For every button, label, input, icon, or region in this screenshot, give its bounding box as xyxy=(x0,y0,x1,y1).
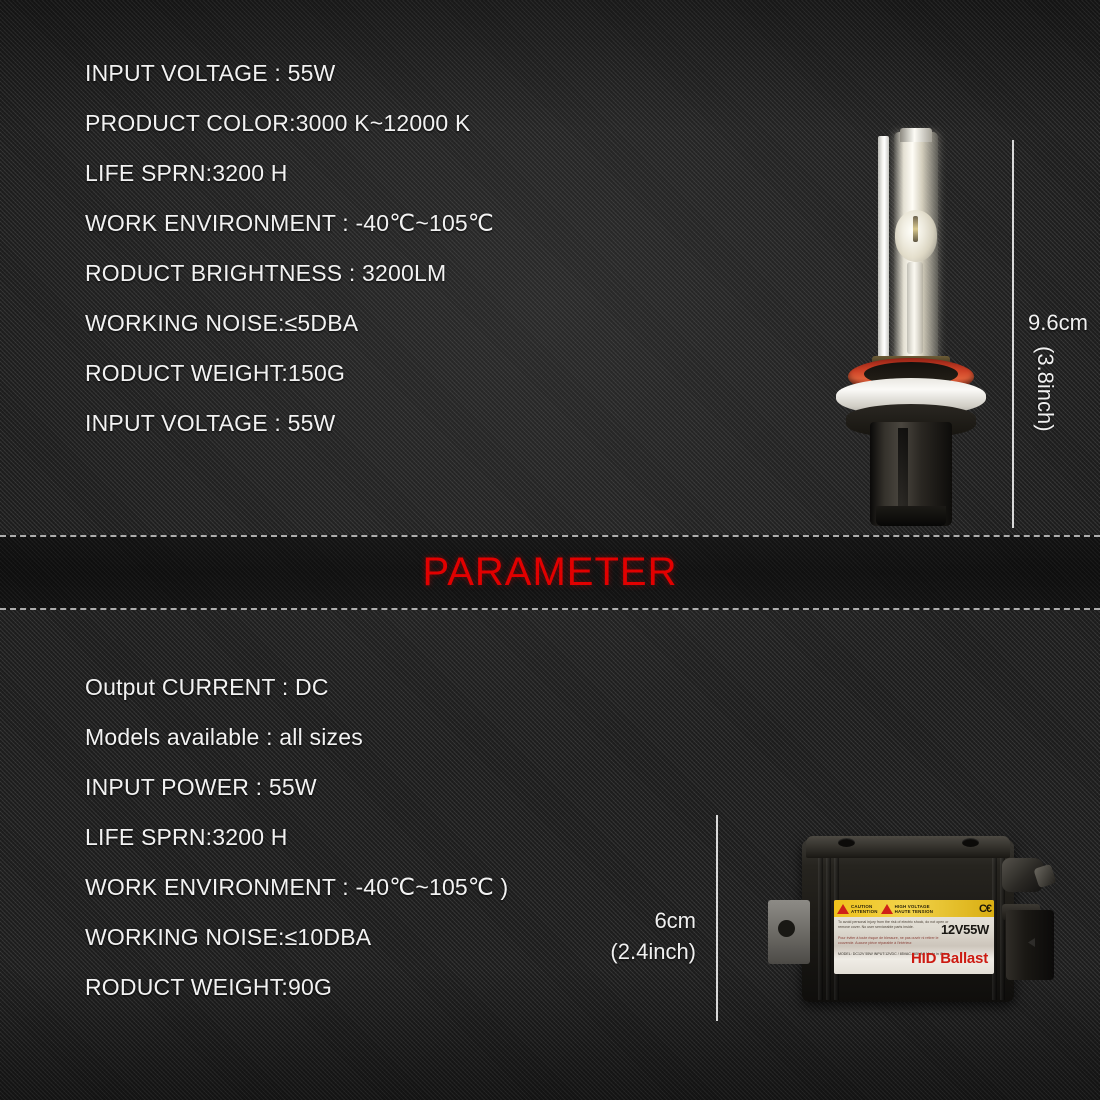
high-voltage-label: HIGH VOLTAGE xyxy=(895,904,933,909)
bulb-dimension-cm: 9.6cm xyxy=(1028,310,1088,336)
caution-label-fr: ATTENTION xyxy=(851,909,878,914)
ballast-fin xyxy=(818,858,823,1000)
ballast-warning-label: CAUTION ATTENTION HIGH VOLTAGE HAUTE TEN… xyxy=(834,900,994,974)
ballast-fin xyxy=(826,858,831,1000)
ce-mark-icon: C€ xyxy=(979,903,991,915)
ballast-top-lip xyxy=(806,836,1010,858)
bottom-spec-list: Output CURRENT : DC Models available : a… xyxy=(85,662,508,1012)
ballast-dimension-inch: (2.4inch) xyxy=(568,936,696,967)
bulb-dimension-inch: (3.8inch) xyxy=(1032,346,1058,432)
label-brand-text: HID Ballast xyxy=(911,950,988,967)
spec-line: INPUT VOLTAGE : 55W xyxy=(85,48,494,98)
label-voltage-rating: 12V55W xyxy=(941,922,989,937)
hid-ballast-image: CAUTION ATTENTION HIGH VOLTAGE HAUTE TEN… xyxy=(766,822,1066,1022)
spec-line: WORKING NOISE:≤10DBA xyxy=(85,912,508,962)
product-spec-image: INPUT VOLTAGE : 55W PRODUCT COLOR:3000 K… xyxy=(0,0,1100,1100)
parameter-banner: PARAMETER xyxy=(0,535,1100,610)
spec-line: WORK ENVIRONMENT : -40℃~105℃ xyxy=(85,198,494,248)
bulb-inner-shaft xyxy=(907,262,923,354)
banner-divider-bottom xyxy=(0,608,1100,610)
bulb-base-foot xyxy=(876,506,946,526)
spec-line: RODUCT WEIGHT:90G xyxy=(85,962,508,1012)
spec-line: RODUCT BRIGHTNESS : 3200LM xyxy=(85,248,494,298)
spec-line: RODUCT WEIGHT:150G xyxy=(85,348,494,398)
ballast-dimension-line xyxy=(716,815,718,1021)
ballast-power-connector xyxy=(1006,910,1054,980)
caution-text-block: CAUTION ATTENTION xyxy=(851,904,878,914)
spec-line: LIFE SPRN:3200 H xyxy=(85,812,508,862)
spec-line: PRODUCT COLOR:3000 K~12000 K xyxy=(85,98,494,148)
warning-triangle-icon xyxy=(837,904,849,914)
bulb-tube-cap xyxy=(900,128,932,142)
spec-line: INPUT POWER : 55W xyxy=(85,762,508,812)
bulb-dimension-line xyxy=(1012,140,1014,528)
high-voltage-label-fr: HAUTE TENSION xyxy=(895,909,933,914)
label-fine-print-fr: Pour éviter à toute risque de blessure, … xyxy=(838,936,950,946)
ballast-dimension-label: 6cm (2.4inch) xyxy=(568,905,696,967)
label-warning-strip: CAUTION ATTENTION HIGH VOLTAGE HAUTE TEN… xyxy=(834,900,994,917)
label-fine-print-en: To avoid personal injury from the risk o… xyxy=(838,920,950,930)
hid-xenon-bulb-image xyxy=(812,128,1002,528)
bulb-electrode xyxy=(913,216,918,242)
warning-triangle-icon xyxy=(881,904,893,914)
ballast-dimension-cm: 6cm xyxy=(568,905,696,936)
spec-line: INPUT VOLTAGE : 55W xyxy=(85,398,494,448)
bulb-ceramic-rod xyxy=(878,136,889,364)
ballast-screw-hole xyxy=(838,838,855,847)
ballast-bracket-hole xyxy=(778,920,795,937)
banner-title: PARAMETER xyxy=(0,535,1100,610)
ballast-screw-hole xyxy=(962,838,979,847)
spec-line: LIFE SPRN:3200 H xyxy=(85,148,494,198)
high-voltage-text-block: HIGH VOLTAGE HAUTE TENSION xyxy=(895,904,933,914)
spec-line: Output CURRENT : DC xyxy=(85,662,508,712)
spec-line: Models available : all sizes xyxy=(85,712,508,762)
spec-line: WORK ENVIRONMENT : -40℃~105℃ ) xyxy=(85,862,508,912)
spec-line: WORKING NOISE:≤5DBA xyxy=(85,298,494,348)
top-spec-list: INPUT VOLTAGE : 55W PRODUCT COLOR:3000 K… xyxy=(85,48,494,448)
